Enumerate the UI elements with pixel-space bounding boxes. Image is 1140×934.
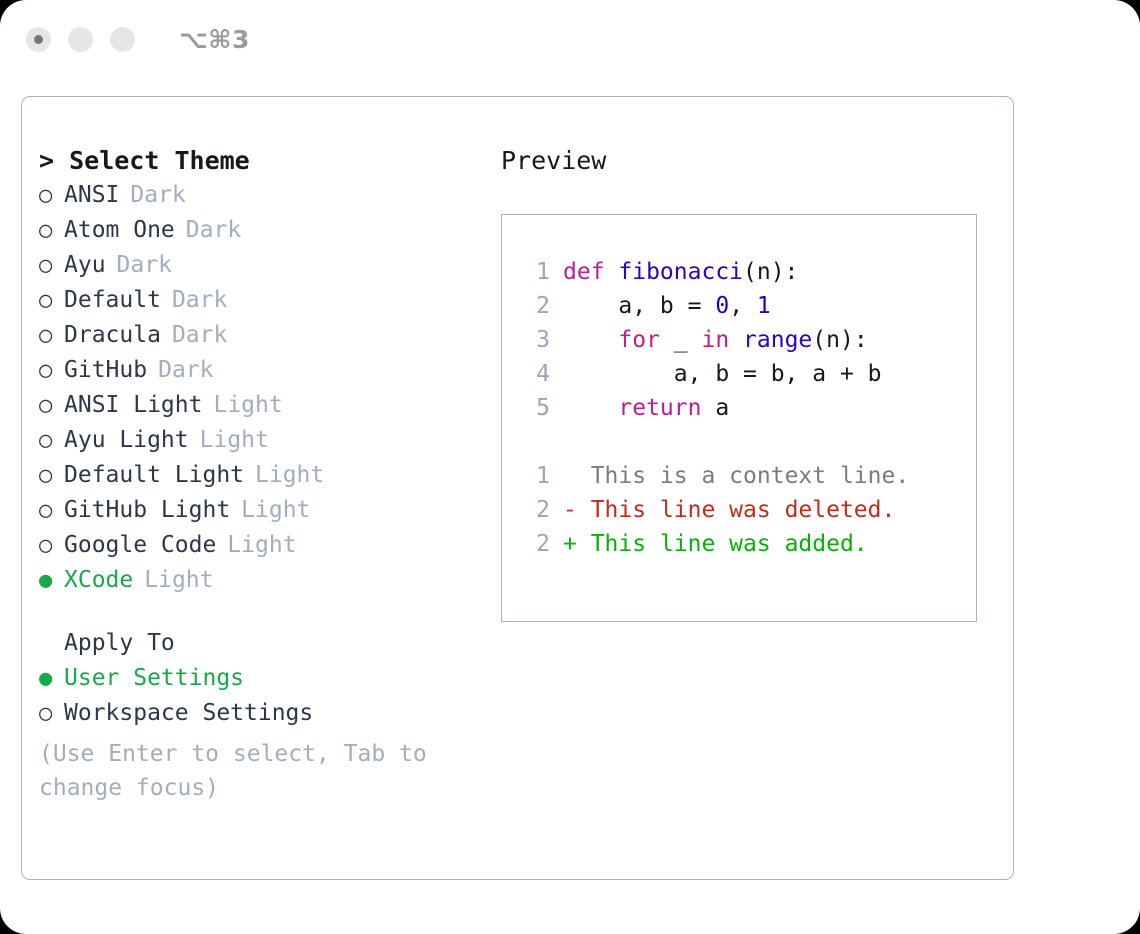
radio-unselected-icon: ○ <box>39 389 64 423</box>
theme-option-name: Google Code <box>64 528 216 562</box>
theme-option-name: ANSI Light <box>64 388 202 422</box>
code-token-plain: (n): <box>812 327 867 353</box>
code-line: 1def fibonacci(n): <box>524 255 976 289</box>
code-token-plain <box>563 327 618 353</box>
theme-option-name: Default <box>64 283 161 317</box>
theme-option-name: ANSI <box>64 178 119 212</box>
apply-to-label: Apply To <box>64 626 175 660</box>
radio-selected-icon: ● <box>39 564 64 598</box>
theme-option-name: GitHub <box>64 353 147 387</box>
code-token-num: 0 <box>715 293 729 319</box>
theme-option-dracula[interactable]: ○DraculaDark <box>39 318 489 353</box>
line-number: 2 <box>524 493 550 527</box>
theme-option-name: Atom One <box>64 213 175 247</box>
code-token-fn: fibonacci <box>618 259 743 285</box>
diff-line-ctx: 1 This is a context line. <box>524 459 976 493</box>
diff-marker: + <box>563 527 591 561</box>
radio-unselected-icon: ○ <box>39 494 64 528</box>
preview-heading: Preview <box>501 144 993 178</box>
theme-option-github-light[interactable]: ○GitHub LightLight <box>39 493 489 528</box>
keyboard-hint-text: (Use Enter to select, Tab to change focu… <box>39 737 459 805</box>
theme-option-github[interactable]: ○GitHubDark <box>39 353 489 388</box>
line-number: 2 <box>524 527 550 561</box>
spacer <box>524 425 976 459</box>
theme-option-name: Default Light <box>64 458 244 492</box>
code-line: 5 return a <box>524 391 976 425</box>
app-window: ⌥⌘3 > Select Theme ○ANSIDark○Atom OneDar… <box>0 0 1140 934</box>
radio-unselected-icon: ○ <box>39 529 64 563</box>
radio-unselected-icon: ○ <box>39 249 64 283</box>
line-number: 5 <box>524 391 550 425</box>
radio-selected-icon: ● <box>39 662 64 696</box>
radio-unselected-icon: ○ <box>39 284 64 318</box>
code-line: 2 a, b = 0, 1 <box>524 289 976 323</box>
theme-option-tag: Dark <box>130 178 185 212</box>
diff-line-add: 2+ This line was added. <box>524 527 976 561</box>
code-token-plain <box>729 327 743 353</box>
code-token-kw: return <box>618 395 701 421</box>
radio-unselected-icon: ○ <box>39 319 64 353</box>
diff-line-del: 2- This line was deleted. <box>524 493 976 527</box>
theme-option-tag: Light <box>227 528 296 562</box>
code-line: 3 for _ in range(n): <box>524 323 976 357</box>
code-token-kw: in <box>701 327 729 353</box>
theme-list-column: > Select Theme ○ANSIDark○Atom OneDark○Ay… <box>39 144 489 805</box>
theme-option-tag: Light <box>255 458 324 492</box>
code-line-text: def fibonacci(n): <box>563 255 798 289</box>
apply-option-name: User Settings <box>64 661 244 695</box>
code-token-plain: , <box>729 293 757 319</box>
code-token-kw: def <box>563 259 618 285</box>
window-dot-1-icon[interactable] <box>26 27 51 52</box>
theme-option-google-code[interactable]: ○Google CodeLight <box>39 528 489 563</box>
theme-option-tag: Dark <box>158 353 213 387</box>
apply-option-user-settings[interactable]: ●User Settings <box>39 661 489 696</box>
line-number: 4 <box>524 357 550 391</box>
spacer <box>39 598 489 626</box>
theme-option-tag: Dark <box>186 213 241 247</box>
code-token-kw: for <box>618 327 660 353</box>
theme-option-name: Dracula <box>64 318 161 352</box>
apply-to-group-label: ○ Apply To <box>39 626 489 661</box>
theme-option-ayu[interactable]: ○AyuDark <box>39 248 489 283</box>
theme-option-default[interactable]: ○DefaultDark <box>39 283 489 318</box>
apply-to-options-list: ●User Settings○Workspace Settings <box>39 661 489 731</box>
window-dot-3-icon[interactable] <box>110 27 135 52</box>
radio-unselected-icon: ○ <box>39 459 64 493</box>
theme-option-tag: Light <box>144 563 213 597</box>
code-token-fn: range <box>743 327 812 353</box>
window-titlebar: ⌥⌘3 <box>0 0 1140 78</box>
code-token-plain: a, b = <box>563 293 715 319</box>
theme-option-name: Ayu Light <box>64 423 189 457</box>
apply-option-workspace-settings[interactable]: ○Workspace Settings <box>39 696 489 731</box>
theme-option-tag: Light <box>200 423 269 457</box>
theme-option-ansi[interactable]: ○ANSIDark <box>39 178 489 213</box>
code-line-text: a, b = b, a + b <box>563 357 882 391</box>
window-controls <box>26 27 135 52</box>
code-token-plain <box>563 395 618 421</box>
theme-option-tag: Dark <box>117 248 172 282</box>
theme-option-xcode[interactable]: ●XCodeLight <box>39 563 489 598</box>
radio-unselected-icon: ○ <box>39 214 64 248</box>
radio-unselected-icon: ○ <box>39 179 64 213</box>
preview-code-box: 1def fibonacci(n):2 a, b = 0, 13 for _ i… <box>501 214 977 622</box>
preview-column: Preview 1def fibonacci(n):2 a, b = 0, 13… <box>501 144 993 622</box>
code-line: 4 a, b = b, a + b <box>524 357 976 391</box>
radio-unselected-icon: ○ <box>39 354 64 388</box>
theme-option-name: Ayu <box>64 248 106 282</box>
apply-option-name: Workspace Settings <box>64 696 313 730</box>
line-number: 1 <box>524 255 550 289</box>
diff-marker: - <box>563 493 591 527</box>
code-token-plain: _ <box>660 327 702 353</box>
theme-option-ansi-light[interactable]: ○ANSI LightLight <box>39 388 489 423</box>
diff-marker <box>563 459 591 493</box>
theme-option-tag: Light <box>241 493 310 527</box>
diff-line-text: This line was deleted. <box>591 493 896 527</box>
code-token-plain: a, b = b, a + b <box>563 361 882 387</box>
code-token-plain: (n): <box>743 259 798 285</box>
apply-to-bullet-placeholder-icon: ○ <box>39 627 64 661</box>
radio-unselected-icon: ○ <box>39 697 64 731</box>
line-number: 3 <box>524 323 550 357</box>
theme-option-tag: Light <box>213 388 282 422</box>
theme-selector-panel: > Select Theme ○ANSIDark○Atom OneDark○Ay… <box>21 96 1014 880</box>
code-token-num: 1 <box>757 293 771 319</box>
code-line-text: return a <box>563 391 729 425</box>
theme-option-name: XCode <box>64 563 133 597</box>
theme-option-tag: Dark <box>172 318 227 352</box>
code-line-text: a, b = 0, 1 <box>563 289 771 323</box>
theme-option-ayu-light[interactable]: ○Ayu LightLight <box>39 423 489 458</box>
code-line-text: for _ in range(n): <box>563 323 868 357</box>
theme-option-atom-one[interactable]: ○Atom OneDark <box>39 213 489 248</box>
line-number: 1 <box>524 459 550 493</box>
theme-option-tag: Dark <box>172 283 227 317</box>
code-sample: 1def fibonacci(n):2 a, b = 0, 13 for _ i… <box>524 255 976 425</box>
diff-sample: 1 This is a context line.2- This line wa… <box>524 459 976 561</box>
diff-line-text: This line was added. <box>591 527 868 561</box>
theme-options-list: ○ANSIDark○Atom OneDark○AyuDark○DefaultDa… <box>39 178 489 598</box>
select-theme-heading: > Select Theme <box>39 144 489 178</box>
line-number: 2 <box>524 289 550 323</box>
diff-line-text: This is a context line. <box>591 459 910 493</box>
window-dot-2-icon[interactable] <box>68 27 93 52</box>
theme-option-default-light[interactable]: ○Default LightLight <box>39 458 489 493</box>
keyboard-shortcut-label: ⌥⌘3 <box>179 25 250 54</box>
code-token-plain: a <box>701 395 729 421</box>
radio-unselected-icon: ○ <box>39 424 64 458</box>
theme-option-name: GitHub Light <box>64 493 230 527</box>
